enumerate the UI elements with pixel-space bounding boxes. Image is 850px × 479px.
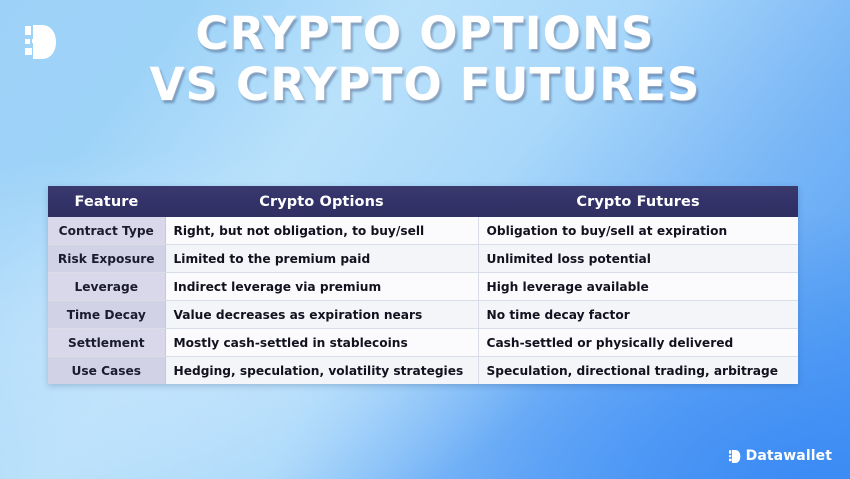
datawallet-d-logo-icon <box>728 449 741 464</box>
cell-crypto-options: Limited to the premium paid <box>165 245 478 273</box>
cell-feature: Time Decay <box>48 301 165 329</box>
table-header-row: Feature Crypto Options Crypto Futures <box>48 186 798 217</box>
cell-crypto-options: Hedging, speculation, volatility strateg… <box>165 357 478 385</box>
table-row: Use Cases Hedging, speculation, volatili… <box>48 357 798 385</box>
table-body: Contract Type Right, but not obligation,… <box>48 217 798 384</box>
cell-feature: Settlement <box>48 329 165 357</box>
title-line-1: CRYPTO OPTIONS <box>0 8 850 59</box>
title-line-2: VS CRYPTO FUTURES <box>0 59 850 110</box>
table-header: Feature Crypto Options Crypto Futures <box>48 186 798 217</box>
cell-crypto-futures: Unlimited loss potential <box>478 245 798 273</box>
cell-crypto-options: Mostly cash-settled in stablecoins <box>165 329 478 357</box>
cell-crypto-futures: Cash-settled or physically delivered <box>478 329 798 357</box>
cell-feature: Use Cases <box>48 357 165 385</box>
slide-canvas: CRYPTO OPTIONS VS CRYPTO FUTURES Feature… <box>0 0 850 479</box>
footer-brand: Datawallet <box>728 448 832 464</box>
cell-crypto-options: Value decreases as expiration nears <box>165 301 478 329</box>
cell-crypto-futures: Obligation to buy/sell at expiration <box>478 217 798 245</box>
comparison-table: Feature Crypto Options Crypto Futures Co… <box>48 186 798 384</box>
cell-feature: Leverage <box>48 273 165 301</box>
cell-crypto-futures: No time decay factor <box>478 301 798 329</box>
table-row: Settlement Mostly cash-settled in stable… <box>48 329 798 357</box>
cell-crypto-futures: Speculation, directional trading, arbitr… <box>478 357 798 385</box>
comparison-table-container: Feature Crypto Options Crypto Futures Co… <box>48 186 798 384</box>
footer-brand-name: Datawallet <box>746 448 832 464</box>
column-header-crypto-futures: Crypto Futures <box>478 186 798 217</box>
table-row: Leverage Indirect leverage via premium H… <box>48 273 798 301</box>
table-row: Risk Exposure Limited to the premium pai… <box>48 245 798 273</box>
table-row: Contract Type Right, but not obligation,… <box>48 217 798 245</box>
column-header-crypto-options: Crypto Options <box>165 186 478 217</box>
column-header-feature: Feature <box>48 186 165 217</box>
cell-crypto-options: Right, but not obligation, to buy/sell <box>165 217 478 245</box>
table-row: Time Decay Value decreases as expiration… <box>48 301 798 329</box>
cell-crypto-options: Indirect leverage via premium <box>165 273 478 301</box>
cell-feature: Risk Exposure <box>48 245 165 273</box>
slide-title: CRYPTO OPTIONS VS CRYPTO FUTURES <box>0 8 850 110</box>
cell-feature: Contract Type <box>48 217 165 245</box>
cell-crypto-futures: High leverage available <box>478 273 798 301</box>
